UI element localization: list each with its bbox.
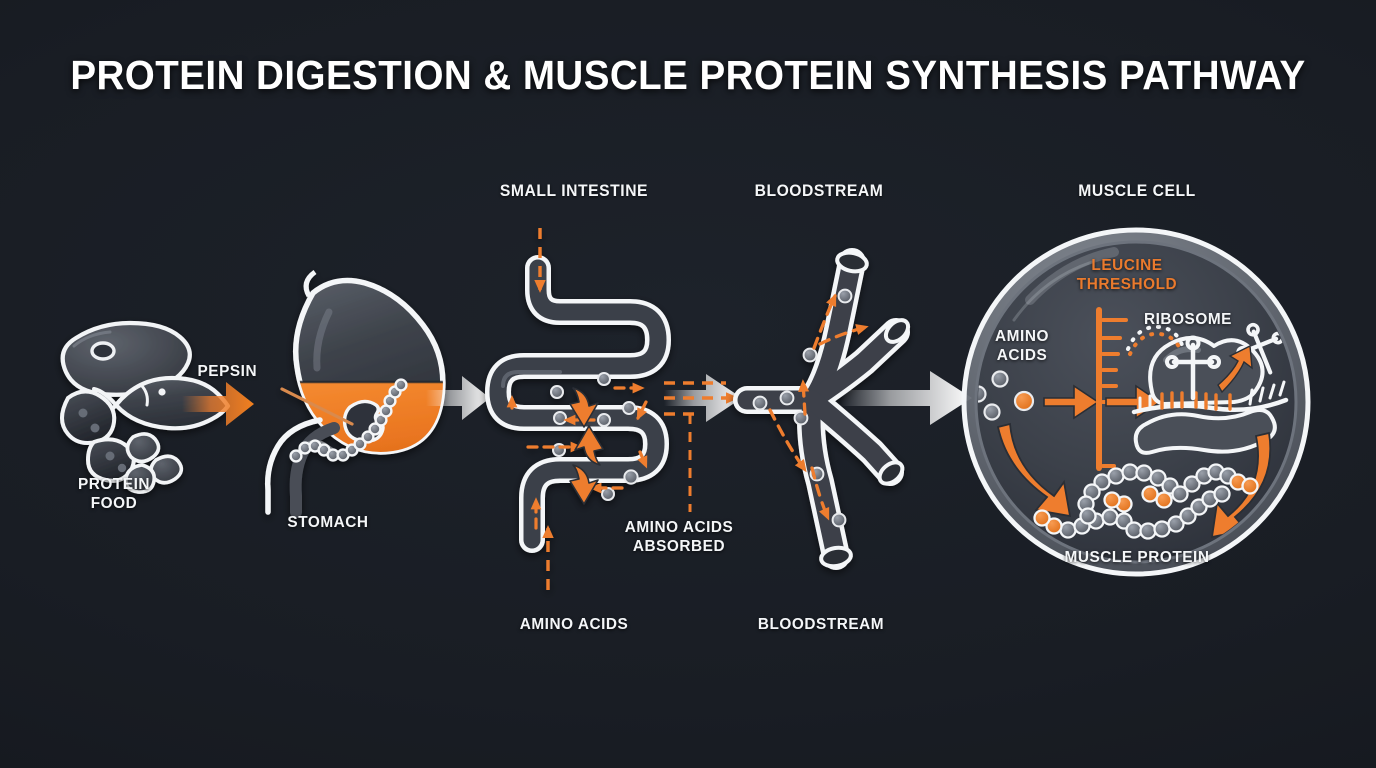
- label-bloodstream-bottom: BLOODSTREAM: [713, 616, 930, 635]
- label-amino-acids-cell: AMINO ACIDS: [959, 328, 1086, 366]
- label-small-intestine: SMALL INTESTINE: [460, 182, 688, 201]
- label-amino-acids-absorbed: AMINO ACIDS ABSORBED: [594, 519, 765, 557]
- diagram-canvas: PROTEIN DIGESTION & MUSCLE PROTEIN SYNTH…: [0, 0, 1376, 768]
- label-muscle-protein: MUSCLE PROTEIN: [1030, 549, 1243, 568]
- label-stomach: STOMACH: [247, 514, 408, 533]
- arrow-intestine-to-bloodstream: [664, 374, 742, 512]
- label-bloodstream-top: BLOODSTREAM: [712, 182, 927, 201]
- leucine-bead: [1015, 392, 1033, 410]
- bloodstream-group: [747, 250, 912, 568]
- label-pepsin: PEPSIN: [198, 363, 367, 382]
- label-muscle-cell: MUSCLE CELL: [1032, 182, 1243, 201]
- diagram-artwork: [0, 0, 1376, 768]
- label-leucine-threshold: LEUCINE THRESHOLD: [1049, 257, 1205, 295]
- label-ribosome: RIBOSOME: [1144, 311, 1336, 330]
- label-protein-food: PROTEIN FOOD: [18, 476, 210, 514]
- label-amino-acids-bottom: AMINO ACIDS: [478, 616, 670, 635]
